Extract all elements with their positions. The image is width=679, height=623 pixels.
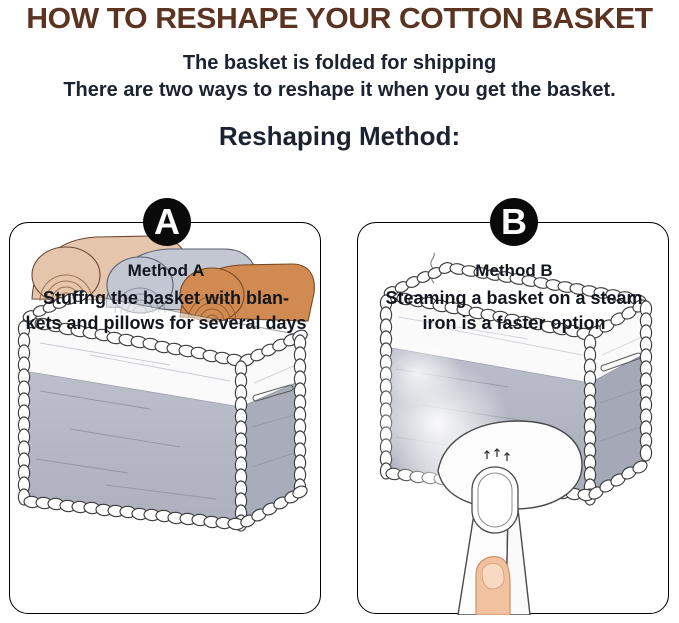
- method-a-label: Method A: [16, 259, 316, 283]
- panel-method-b: Method B Steaming a basket on a steam ir…: [357, 222, 669, 614]
- method-b-description: Steaming a basket on a steam iron is a f…: [364, 286, 664, 336]
- method-a-description: Stuffng the basket with blan- kets and p…: [16, 286, 316, 336]
- subtitle-line-1: The basket is folded for shipping: [0, 50, 679, 77]
- method-b-description-line-2: iron is a faster option: [364, 311, 664, 336]
- subtitle-block: The basket is folded for shipping There …: [0, 50, 679, 104]
- steam-arrow-icons: [485, 449, 510, 461]
- method-a-description-line-2: kets and pillows for several days: [16, 311, 316, 336]
- steam-iron: [438, 421, 582, 615]
- panel-b-text: Method B Steaming a basket on a steam ir…: [364, 259, 664, 336]
- finger: [476, 557, 510, 615]
- method-b-label: Method B: [364, 259, 664, 283]
- page-title: HOW TO RESHAPE YOUR COTTON BASKET: [0, 0, 679, 36]
- badge-method-b: B: [490, 198, 538, 246]
- subtitle-line-2: There are two ways to reshape it when yo…: [0, 77, 679, 104]
- steam-cloud: [366, 339, 564, 529]
- method-a-description-line-1: Stuffng the basket with blan-: [16, 286, 316, 311]
- method-b-description-line-1: Steaming a basket on a steam: [364, 286, 664, 311]
- panel-a-text: Method A Stuffng the basket with blan- k…: [16, 259, 316, 336]
- badge-method-a: A: [143, 198, 191, 246]
- header: HOW TO RESHAPE YOUR COTTON BASKET The ba…: [0, 0, 679, 151]
- section-heading: Reshaping Method:: [0, 121, 679, 151]
- panel-method-a: Method A Stuffng the basket with blan- k…: [9, 222, 321, 614]
